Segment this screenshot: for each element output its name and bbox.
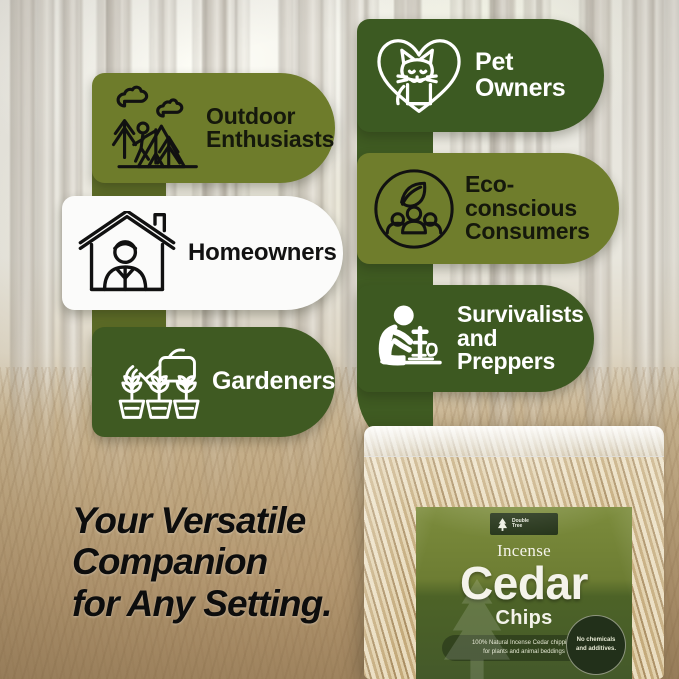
bag-zip-seal: [364, 426, 664, 457]
kneeling-firestarter-icon: [373, 301, 449, 377]
audience-card-label: Outdoor Enthusiasts: [206, 105, 334, 152]
audience-card-label: Gardeners: [212, 369, 335, 395]
double-tree-logo-icon: [497, 518, 508, 531]
cat-in-heart-icon: [375, 35, 463, 117]
audience-card-outdoor[interactable]: Outdoor Enthusiasts: [92, 73, 335, 183]
audience-card-eco-conscious[interactable]: Eco-conscious Consumers: [357, 153, 619, 264]
hiker-mountain-clouds-icon: [108, 85, 200, 171]
audience-card-label: Pet Owners: [475, 50, 566, 101]
product-infographic: Outdoor Enthusiasts Homeowners: [0, 0, 679, 679]
headline-text: Your Versatile Companion for Any Setting…: [72, 500, 382, 624]
audience-card-pet-owners[interactable]: Pet Owners: [357, 19, 604, 132]
brand-logo-chip: Double Tree: [490, 513, 558, 535]
house-person-icon: [74, 211, 180, 295]
audience-card-label: Homeowners: [188, 241, 337, 265]
audience-card-label: Survivalists and Preppers: [457, 303, 594, 373]
audience-card-label: Eco-conscious Consumers: [465, 173, 619, 243]
no-chemicals-badge: No chemicals and additives.: [566, 615, 626, 675]
audience-card-homeowners[interactable]: Homeowners: [62, 196, 343, 310]
product-label-panel: Double Tree Incense Cedar Chips 100% Nat…: [416, 507, 632, 679]
product-package[interactable]: Double Tree Incense Cedar Chips 100% Nat…: [364, 426, 664, 679]
brand-name: Double Tree: [512, 519, 529, 530]
audience-card-survivalists[interactable]: Survivalists and Preppers: [357, 285, 594, 392]
leaf-people-circle-icon: [373, 168, 455, 250]
watering-can-potted-plants-icon: [112, 343, 208, 421]
product-name: Cedar: [416, 556, 632, 610]
audience-card-gardeners[interactable]: Gardeners: [92, 327, 335, 437]
